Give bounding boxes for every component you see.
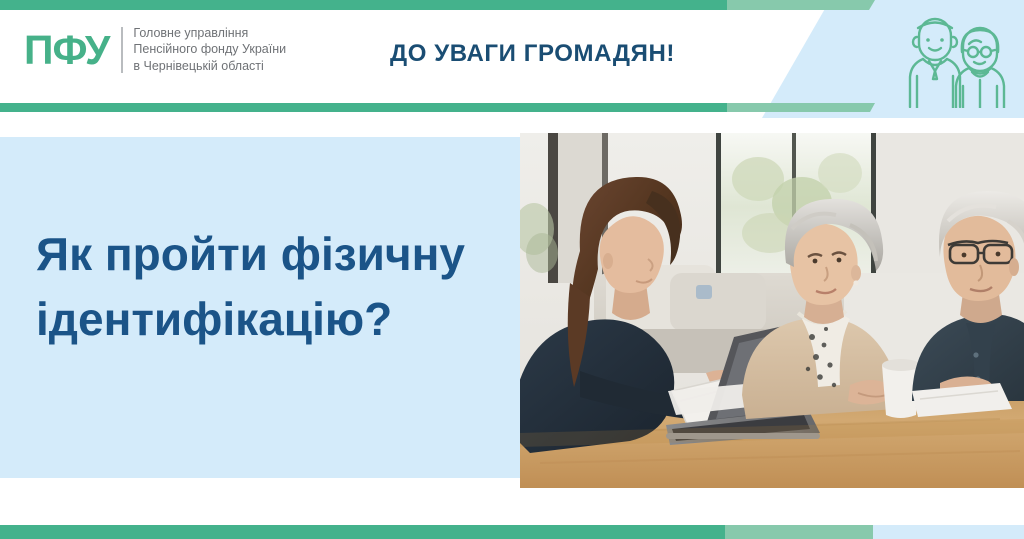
pfu-announcement-banner: ПФУ Головне управління Пенсійного фонду … xyxy=(0,0,1024,539)
logo-org-line-3: в Чернівецькій області xyxy=(133,59,286,74)
bottom-accent-bar-blue-segment xyxy=(873,525,1024,539)
top-accent-bar xyxy=(0,0,875,10)
logo-org-line-1: Головне управління xyxy=(133,26,286,41)
headline-line-2: ідентифікацію? xyxy=(36,287,506,352)
logo-org-text: Головне управління Пенсійного фонду Укра… xyxy=(133,26,286,74)
header-divider-bar xyxy=(0,103,875,112)
header-title: ДО УВАГИ ГРОМАДЯН! xyxy=(390,40,675,68)
header-divider-light-segment xyxy=(727,103,875,112)
pfu-logo-mark: ПФУ xyxy=(24,30,109,71)
elderly-couple-icon xyxy=(893,6,1011,108)
pfu-logo: ПФУ Головне управління Пенсійного фонду … xyxy=(24,26,286,74)
headline-line-1: Як пройти фізичну xyxy=(36,222,506,287)
page-title: Як пройти фізичну ідентифікацію? xyxy=(36,222,506,353)
logo-org-line-2: Пенсійного фонду України xyxy=(133,42,286,57)
bottom-accent-bar xyxy=(0,525,1024,539)
top-accent-bar-solid-segment xyxy=(0,0,727,10)
bottom-accent-bar-light-segment xyxy=(725,525,873,539)
header-divider-solid-segment xyxy=(0,103,727,112)
logo-divider xyxy=(121,27,123,73)
consultation-photo xyxy=(520,133,1024,488)
top-accent-bar-light-segment xyxy=(727,0,875,10)
bottom-accent-bar-solid-segment xyxy=(0,525,725,539)
